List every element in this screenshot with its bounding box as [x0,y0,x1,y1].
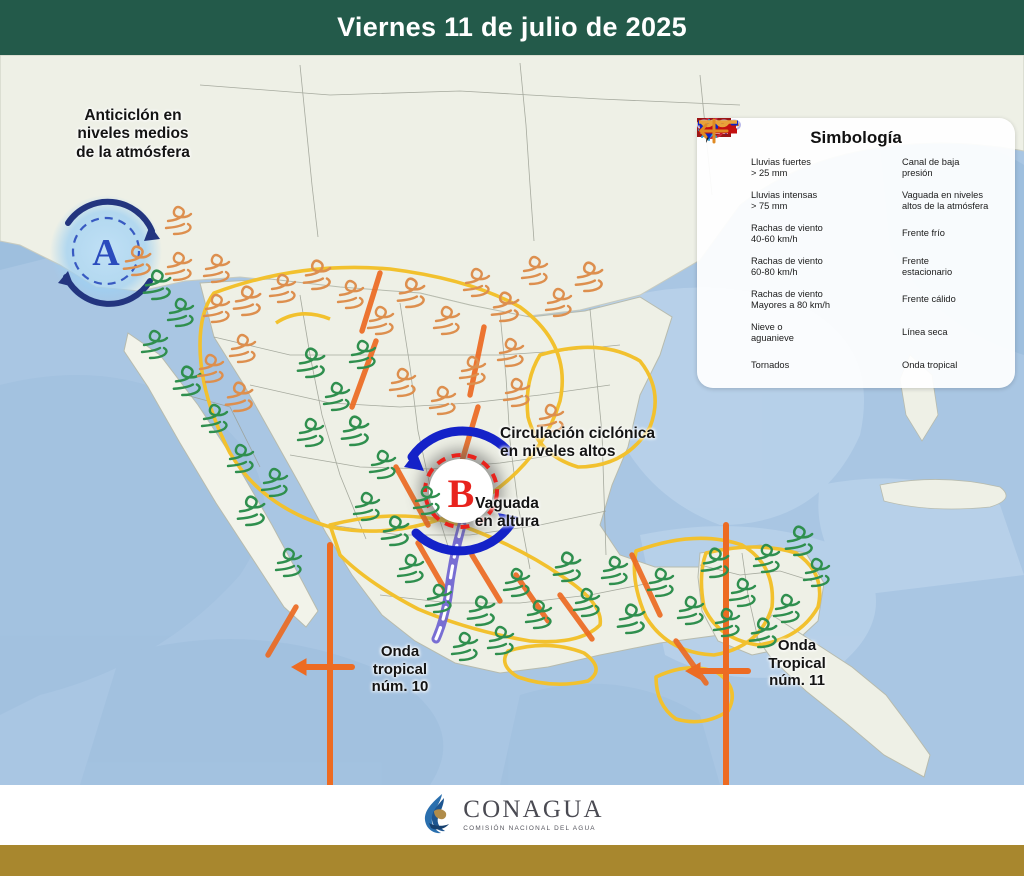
legend-label: Frente estacionario [902,256,952,279]
legend-label: Rachas de viento Mayores a 80 km/h [751,289,830,312]
legend-label: Frente frío [902,228,945,239]
legend-label: Rachas de viento 60-80 km/h [751,256,823,279]
legend-label: Vaguada en niveles altos de la atmósfera [902,190,988,213]
legend-item-onda-tropical[interactable]: Onda tropical [856,353,1007,379]
legend-label: Tornados [751,360,789,371]
legend-item-rachas-mayores-80[interactable]: Rachas de viento Mayores a 80 km/h [705,287,856,313]
weather-map[interactable]: A [0,55,1024,785]
header-bar: Viernes 11 de julio de 2025 [0,0,1024,55]
stationary-front-icon [856,254,902,280]
legend-column-left: Lluvias fuertes > 25 mm Lluvias intensas… [705,155,856,386]
legend-label: Nieve o aguanieve [751,322,794,345]
legend-item-rachas-40-60[interactable]: Rachas de viento 40-60 km/h [705,221,856,247]
legend-item-frente-estacionario[interactable]: Frente estacionario [856,254,1007,280]
legend-title: Simbología [697,128,1015,148]
upper-trough-chain-icon [856,188,902,214]
rain-intense-box-icon [705,188,751,214]
legend-item-tornados[interactable]: Tornados [705,353,856,379]
warm-front-icon [856,287,902,313]
tropical-wave-icon [856,353,902,379]
conagua-logo-text: CONAGUA COMISIÓN NACIONAL DEL AGUA [463,797,603,832]
legend-panel[interactable]: Simbología Lluvias fuertes > 25 mm Lluvi… [697,118,1015,388]
legend-item-frente-calido[interactable]: Frente cálido [856,287,1007,313]
page-title: Viernes 11 de julio de 2025 [337,12,687,43]
legend-label: Línea seca [902,327,948,338]
legend-label: Onda tropical [902,360,957,371]
snow-sleet-icon [705,320,751,346]
wind-gust-green-icon [705,221,751,247]
legend-label: Frente cálido [902,294,956,305]
cold-front-icon [856,221,902,247]
legend-item-vaguada-niveles-altos[interactable]: Vaguada en niveles altos de la atmósfera [856,188,1007,214]
low-pressure-channel-icon [856,155,902,181]
legend-item-linea-seca[interactable]: Línea seca [856,320,1007,346]
conagua-name: CONAGUA [463,797,603,822]
legend-label: Rachas de viento 40-60 km/h [751,223,823,246]
legend-label: Lluvias intensas > 75 mm [751,190,817,213]
rain-heavy-box-icon [705,155,751,181]
footer-bar: CONAGUA COMISIÓN NACIONAL DEL AGUA [0,785,1024,843]
legend-item-lluvias-intensas[interactable]: Lluvias intensas > 75 mm [705,188,856,214]
legend-label: Canal de baja presión [902,157,959,180]
legend-label: Lluvias fuertes > 25 mm [751,157,811,180]
conagua-subtitle: COMISIÓN NACIONAL DEL AGUA [463,825,603,832]
tornado-icon [705,353,751,379]
wind-gust-red-icon [705,287,751,313]
gold-accent-bar [0,845,1024,876]
conagua-logo-icon [420,793,454,835]
legend-item-rachas-60-80[interactable]: Rachas de viento 60-80 km/h [705,254,856,280]
legend-item-lluvias-fuertes[interactable]: Lluvias fuertes > 25 mm [705,155,856,181]
dry-line-icon [856,320,902,346]
legend-item-nieve[interactable]: Nieve o aguanieve [705,320,856,346]
legend-column-right: Canal de baja presión Vag [856,155,1007,386]
legend-item-frente-frio[interactable]: Frente frío [856,221,1007,247]
legend-item-canal-baja-presion[interactable]: Canal de baja presión [856,155,1007,181]
cyclone-letter-B: B [448,471,475,516]
anticyclone-letter-A: A [92,232,120,274]
wind-gust-yellow-icon [705,254,751,280]
